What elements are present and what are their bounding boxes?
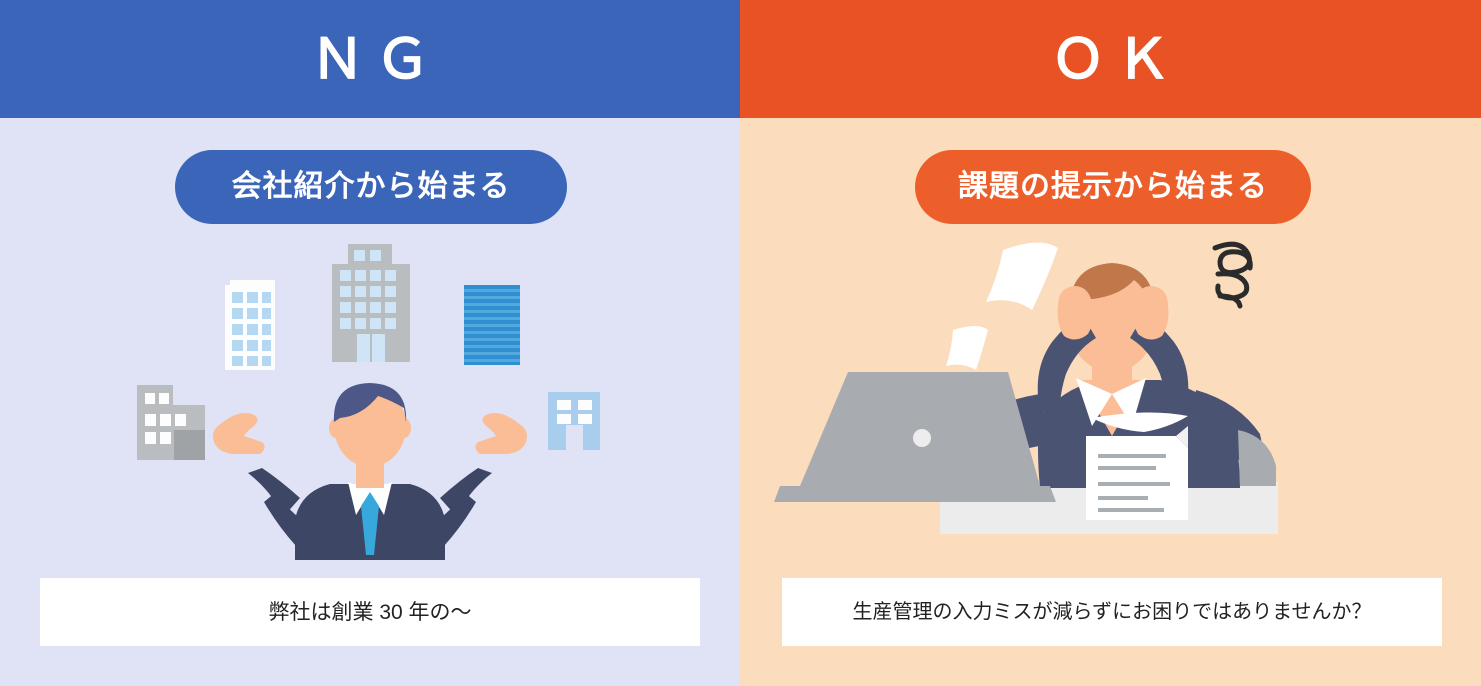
comparison-graphic: ＮＧ 会社紹介から始まる [0,0,1481,686]
pill-label-ng: 会社紹介から始まる [232,172,511,202]
stress-squiggle-icon [1215,244,1250,306]
building-gray-small-icon [137,385,205,460]
laptop-icon [774,372,1056,502]
pill-badge-ok: 課題の提示から始まる [915,150,1311,224]
pill-badge-ng: 会社紹介から始まる [175,150,567,224]
businessman-figure [213,383,527,560]
caption-box-ng: 弊社は創業 30 年の〜 [40,578,700,646]
building-blue-small-icon [548,392,600,450]
header-title-ok: ＯＫ [1040,32,1180,87]
pill-label-ok: 課題の提示から始まる [958,172,1268,202]
caption-text-ng: 弊社は創業 30 年の〜 [268,602,471,623]
flying-papers-icon [946,242,1058,370]
panel-ng: ＮＧ 会社紹介から始まる [0,0,740,686]
illustration-ng [0,230,740,570]
building-blue-striped-icon [464,285,520,365]
building-white-tower-icon [225,280,275,370]
caption-text-ok: 生産管理の入力ミスが減らずにお困りではありませんか？ [853,602,1372,622]
header-bar-ok: ＯＫ [740,0,1481,118]
panel-ok: ＯＫ 課題の提示から始まる [740,0,1481,686]
illustration-ok [740,230,1481,570]
header-bar-ng: ＮＧ [0,0,740,118]
building-gray-skyscraper-icon [332,244,410,362]
header-title-ng: ＮＧ [300,32,440,87]
caption-box-ok: 生産管理の入力ミスが減らずにお困りではありませんか？ [782,578,1442,646]
